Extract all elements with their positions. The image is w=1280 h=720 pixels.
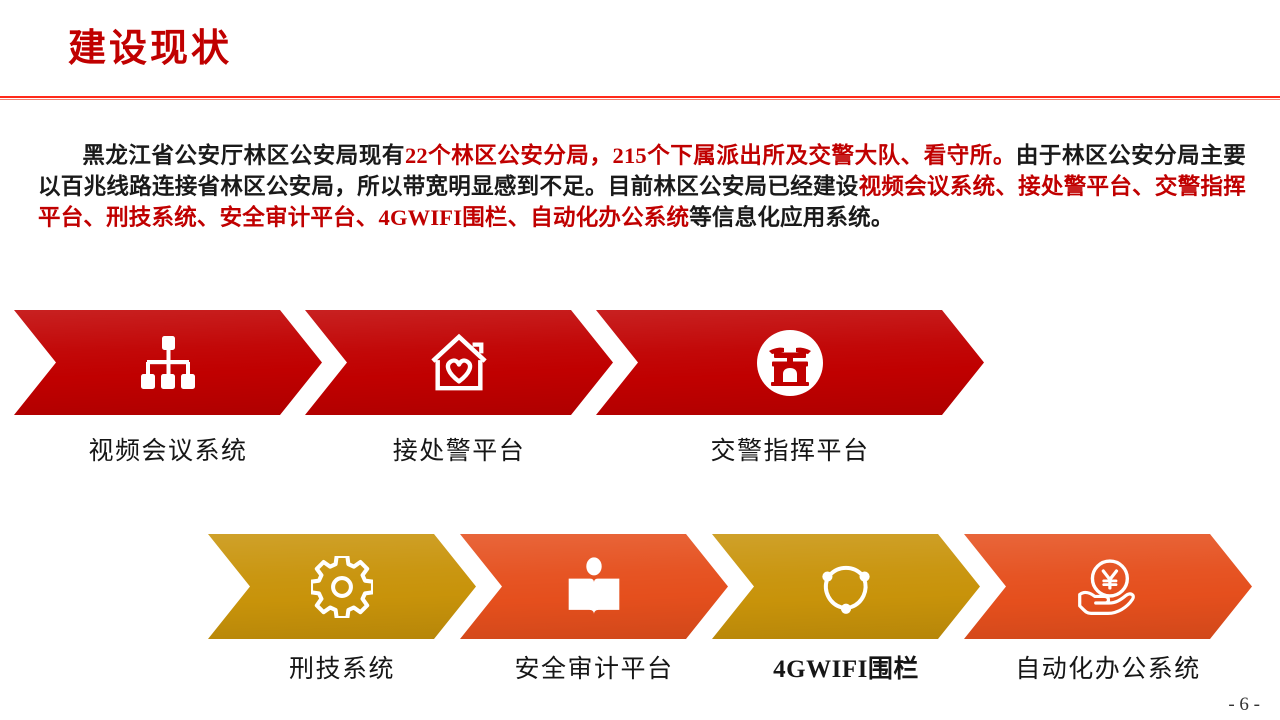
- process-label: 安全审计平台: [460, 649, 728, 685]
- process-item-4g-wifi-fence[interactable]: 4GWIFI围栏: [712, 534, 980, 639]
- chevron-shape[interactable]: [596, 310, 984, 415]
- paragraph-segment-2-highlight: 22个林区公安分局，215个下属派出所及交警大队、看守所。: [405, 143, 1016, 168]
- slide-root: 建设现状 黑龙江省公安厅林区公安局现有22个林区公安分局，215个下属派出所及交…: [0, 0, 1280, 720]
- gate-circle-icon: [754, 327, 826, 399]
- open-book-reader-icon: [564, 556, 624, 618]
- chevron-shape[interactable]: [208, 534, 476, 639]
- paragraph-segment-1: 黑龙江省公安厅林区公安局现有: [82, 143, 405, 168]
- process-label: 刑技系统: [208, 649, 476, 685]
- process-label: 视频会议系统: [14, 431, 322, 467]
- title-divider: [0, 96, 1280, 98]
- chevron-sheen: [305, 310, 613, 415]
- sitemap-icon: [137, 334, 199, 392]
- gear-icon: [311, 556, 373, 618]
- process-item-traffic-command[interactable]: 交警指挥平台: [596, 310, 984, 415]
- chevron-shape[interactable]: [14, 310, 322, 415]
- network-nodes-icon: [817, 558, 875, 616]
- process-label: 接处警平台: [305, 431, 613, 467]
- chevron-shape[interactable]: [712, 534, 980, 639]
- process-item-security-audit[interactable]: 安全审计平台: [460, 534, 728, 639]
- process-item-office-automation[interactable]: 自动化办公系统: [964, 534, 1252, 639]
- paragraph-segment-5: 等信息化应用系统。: [689, 205, 893, 230]
- title-divider-secondary: [0, 99, 1280, 100]
- process-label: 自动化办公系统: [964, 649, 1252, 685]
- chevron-sheen: [460, 534, 728, 639]
- chevron-sheen: [14, 310, 322, 415]
- page-title: 建设现状: [68, 28, 232, 72]
- chevron-sheen: [712, 534, 980, 639]
- chevron-shape[interactable]: [460, 534, 728, 639]
- page-number: - 6 -: [1228, 694, 1260, 716]
- hand-coin-yuan-icon: [1075, 556, 1141, 618]
- chevron-sheen: [596, 310, 984, 415]
- process-label: 交警指挥平台: [596, 431, 984, 467]
- process-label: 4GWIFI围栏: [712, 649, 980, 685]
- chevron-sheen: [208, 534, 476, 639]
- process-item-video-conference[interactable]: 视频会议系统: [14, 310, 322, 415]
- chevron-shape[interactable]: [964, 534, 1252, 639]
- body-paragraph: 黑龙江省公安厅林区公安局现有22个林区公安分局，215个下属派出所及交警大队、看…: [38, 140, 1246, 233]
- process-item-forensics[interactable]: 刑技系统: [208, 534, 476, 639]
- chevron-sheen: [964, 534, 1252, 639]
- chevron-shape[interactable]: [305, 310, 613, 415]
- process-item-dispatch-platform[interactable]: 接处警平台: [305, 310, 613, 415]
- house-heart-icon: [428, 332, 490, 394]
